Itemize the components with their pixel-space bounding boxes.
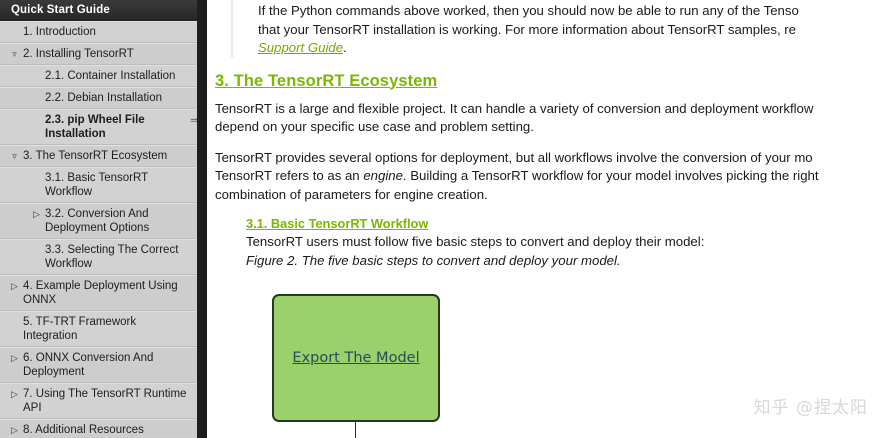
document-content: If the Python commands above worked, the… bbox=[207, 0, 882, 438]
sidebar-item-1[interactable]: ▿2. Installing TensorRT bbox=[0, 43, 207, 65]
p1-line-1: TensorRT is a large and flexible project… bbox=[215, 101, 813, 116]
section-3-1-block: 3.1. Basic TensorRT Workflow TensorRT us… bbox=[207, 216, 882, 270]
sidebar-item-5[interactable]: ▿3. The TensorRT Ecosystem bbox=[0, 145, 207, 167]
sidebar-toc: Quick Start Guide 1. Introduction▿2. Ins… bbox=[0, 0, 207, 438]
note-block: If the Python commands above worked, the… bbox=[231, 0, 882, 58]
section-3-1-intro: TensorRT users must follow five basic st… bbox=[246, 233, 882, 252]
chevron-right-icon[interactable]: ▷ bbox=[9, 279, 20, 293]
sidebar-item-10[interactable]: 5. TF-TRT Framework Integration bbox=[0, 311, 207, 347]
sidebar-item-9[interactable]: ▷4. Example Deployment Using ONNX bbox=[0, 275, 207, 311]
chevron-right-icon[interactable]: ▷ bbox=[31, 207, 42, 221]
section-3-paragraph-2: TensorRT provides several options for de… bbox=[215, 149, 882, 205]
sidebar-item-label: 2.2. Debian Installation bbox=[45, 91, 187, 105]
sidebar-item-6[interactable]: 3.1. Basic TensorRT Workflow bbox=[0, 167, 207, 203]
p2-line-3: combination of parameters for engine cre… bbox=[215, 187, 488, 202]
p2-line-2-a: TensorRT refers to as an bbox=[215, 168, 363, 183]
sidebar-item-8[interactable]: 3.3. Selecting The Correct Workflow bbox=[0, 239, 207, 275]
sidebar-item-7[interactable]: ▷3.2. Conversion And Deployment Options bbox=[0, 203, 207, 239]
chevron-right-icon[interactable]: ▷ bbox=[9, 423, 20, 437]
section-3-heading[interactable]: 3. The TensorRT Ecosystem bbox=[207, 72, 882, 91]
note-line-1: If the Python commands above worked, the… bbox=[258, 3, 799, 18]
chevron-down-icon[interactable]: ▿ bbox=[9, 47, 20, 61]
section-3-paragraph-1: TensorRT is a large and flexible project… bbox=[215, 100, 882, 137]
sidebar-item-label: 3.1. Basic TensorRT Workflow bbox=[45, 171, 187, 199]
note-paragraph: If the Python commands above worked, the… bbox=[258, 2, 882, 58]
sidebar-item-label: 1. Introduction bbox=[23, 25, 187, 39]
sidebar-item-label: 3.3. Selecting The Correct Workflow bbox=[45, 243, 187, 271]
flow-connector-line bbox=[355, 422, 356, 438]
sidebar-edge-divider bbox=[197, 0, 207, 438]
flow-node-label: Export The Model bbox=[292, 350, 419, 366]
sidebar-item-label: 2.1. Container Installation bbox=[45, 69, 187, 83]
watermark: 知乎 @捏太阳 bbox=[754, 393, 868, 418]
sidebar-title: Quick Start Guide bbox=[0, 0, 207, 21]
flow-node-export-the-model[interactable]: Export The Model bbox=[272, 294, 440, 422]
sidebar-item-label: 3. The TensorRT Ecosystem bbox=[23, 149, 187, 163]
sidebar-item-0[interactable]: 1. Introduction bbox=[0, 21, 207, 43]
sidebar-item-label: 7. Using The TensorRT Runtime API bbox=[23, 387, 187, 415]
toc-list: 1. Introduction▿2. Installing TensorRT2.… bbox=[0, 21, 207, 438]
sidebar-item-label: 4. Example Deployment Using ONNX bbox=[23, 279, 187, 307]
sidebar-item-4[interactable]: 2.3. pip Wheel File Installation⇒ bbox=[0, 109, 207, 145]
note-line-2: that your TensorRT installation is worki… bbox=[258, 22, 796, 37]
section-3-body: TensorRT is a large and flexible project… bbox=[207, 100, 882, 205]
sidebar-item-2[interactable]: 2.1. Container Installation bbox=[0, 65, 207, 87]
figure-2-caption: Figure 2. The five basic steps to conver… bbox=[246, 252, 882, 271]
sidebar-item-13[interactable]: ▷8. Additional Resources bbox=[0, 419, 207, 438]
note-period: . bbox=[343, 40, 347, 55]
sidebar-item-label: 8. Additional Resources bbox=[23, 423, 187, 437]
p2-line-2-b: . Building a TensorRT workflow for your … bbox=[403, 168, 819, 183]
sidebar-item-3[interactable]: 2.2. Debian Installation bbox=[0, 87, 207, 109]
support-guide-link[interactable]: Support Guide bbox=[258, 40, 343, 55]
section-3-1-heading[interactable]: 3.1. Basic TensorRT Workflow bbox=[246, 216, 882, 231]
sidebar-item-label: 5. TF-TRT Framework Integration bbox=[23, 315, 187, 343]
p2-line-1: TensorRT provides several options for de… bbox=[215, 150, 813, 165]
chevron-right-icon[interactable]: ▷ bbox=[9, 387, 20, 401]
engine-emphasis: engine bbox=[363, 168, 403, 183]
sidebar-item-label: 2.3. pip Wheel File Installation bbox=[45, 113, 187, 141]
sidebar-item-11[interactable]: ▷6. ONNX Conversion And Deployment bbox=[0, 347, 207, 383]
documentation-viewer: Quick Start Guide 1. Introduction▿2. Ins… bbox=[0, 0, 882, 438]
p1-line-2: depend on your specific use case and pro… bbox=[215, 119, 534, 134]
sidebar-item-label: 3.2. Conversion And Deployment Options bbox=[45, 207, 187, 235]
chevron-right-icon[interactable]: ▷ bbox=[9, 351, 20, 365]
sidebar-item-label: 6. ONNX Conversion And Deployment bbox=[23, 351, 187, 379]
sidebar-item-12[interactable]: ▷7. Using The TensorRT Runtime API bbox=[0, 383, 207, 419]
chevron-down-icon[interactable]: ▿ bbox=[9, 149, 20, 163]
sidebar-item-label: 2. Installing TensorRT bbox=[23, 47, 187, 61]
